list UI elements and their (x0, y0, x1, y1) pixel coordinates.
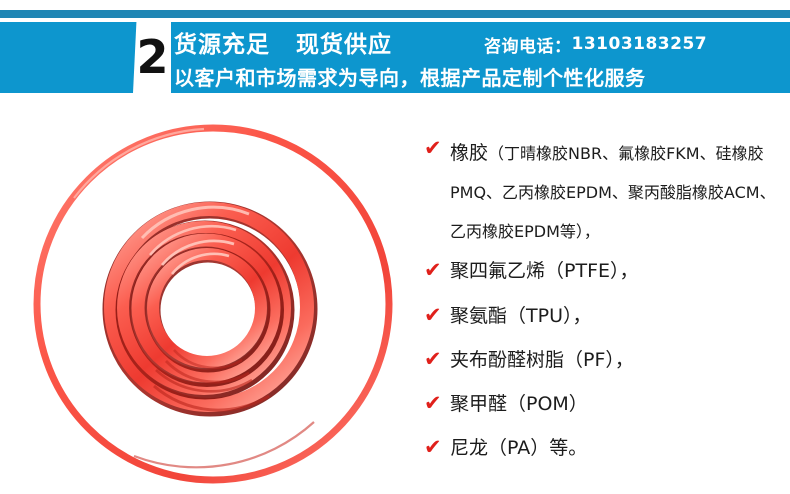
check-icon: ✔ (424, 434, 450, 460)
banner-title: 货源充足 现货供应 (174, 27, 392, 57)
contact-phone-label: 咨询电话： (484, 32, 572, 57)
feature-rubber-detail: （丁晴橡胶NBR、氟橡胶FKM、硅橡胶PMQ、乙丙橡胶EPDM、聚丙酸脂橡胶AC… (450, 144, 776, 241)
check-icon: ✔ (424, 302, 450, 328)
step-number-label: 2 (136, 34, 167, 80)
feature-rubber-head: 橡胶 (450, 142, 488, 164)
feature-pa-text: 尼龙（PA）等。 (450, 433, 786, 464)
feature-ptfe: ✔ 聚四氟乙烯（PTFE）， (424, 256, 786, 287)
banner-subtitle: 以客户和市场需求为导向，根据产品定制个性化服务 (174, 62, 646, 90)
banner-top-stripe (0, 10, 790, 18)
contact-phone-number: 13103183257 (572, 34, 708, 54)
feature-rubber: ✔ 橡胶（丁晴橡胶NBR、氟橡胶FKM、硅橡胶PMQ、乙丙橡胶EPDM、聚丙酸脂… (424, 134, 786, 251)
contact-phone: 咨询电话： 13103183257 (484, 32, 707, 56)
step-number-badge: 2 (133, 22, 171, 93)
feature-ptfe-text: 聚四氟乙烯（PTFE）， (450, 256, 786, 287)
feature-tpu: ✔ 聚氨酯（TPU）， (424, 301, 786, 332)
feature-pom: ✔ 聚甲醛（POM） (424, 389, 786, 420)
feature-pf-text: 夹布酚醛树脂（PF）， (450, 345, 786, 376)
check-icon: ✔ (424, 346, 450, 372)
feature-rubber-text: 橡胶（丁晴橡胶NBR、氟橡胶FKM、硅橡胶PMQ、乙丙橡胶EPDM、聚丙酸脂橡胶… (450, 134, 786, 251)
check-icon: ✔ (424, 135, 450, 161)
check-icon: ✔ (424, 257, 450, 283)
banner-title-part1: 货源充足 (174, 25, 270, 59)
product-photo-o-rings (14, 108, 418, 494)
material-feature-list: ✔ 橡胶（丁晴橡胶NBR、氟橡胶FKM、硅橡胶PMQ、乙丙橡胶EPDM、聚丙酸脂… (424, 128, 786, 478)
feature-tpu-text: 聚氨酯（TPU）， (450, 301, 786, 332)
feature-pa: ✔ 尼龙（PA）等。 (424, 433, 786, 464)
o-rings-illustration (14, 108, 418, 494)
feature-pom-text: 聚甲醛（POM） (450, 389, 786, 420)
feature-pf: ✔ 夹布酚醛树脂（PF）， (424, 345, 786, 376)
check-icon: ✔ (424, 390, 450, 416)
banner-title-part2: 现货供应 (296, 25, 392, 59)
